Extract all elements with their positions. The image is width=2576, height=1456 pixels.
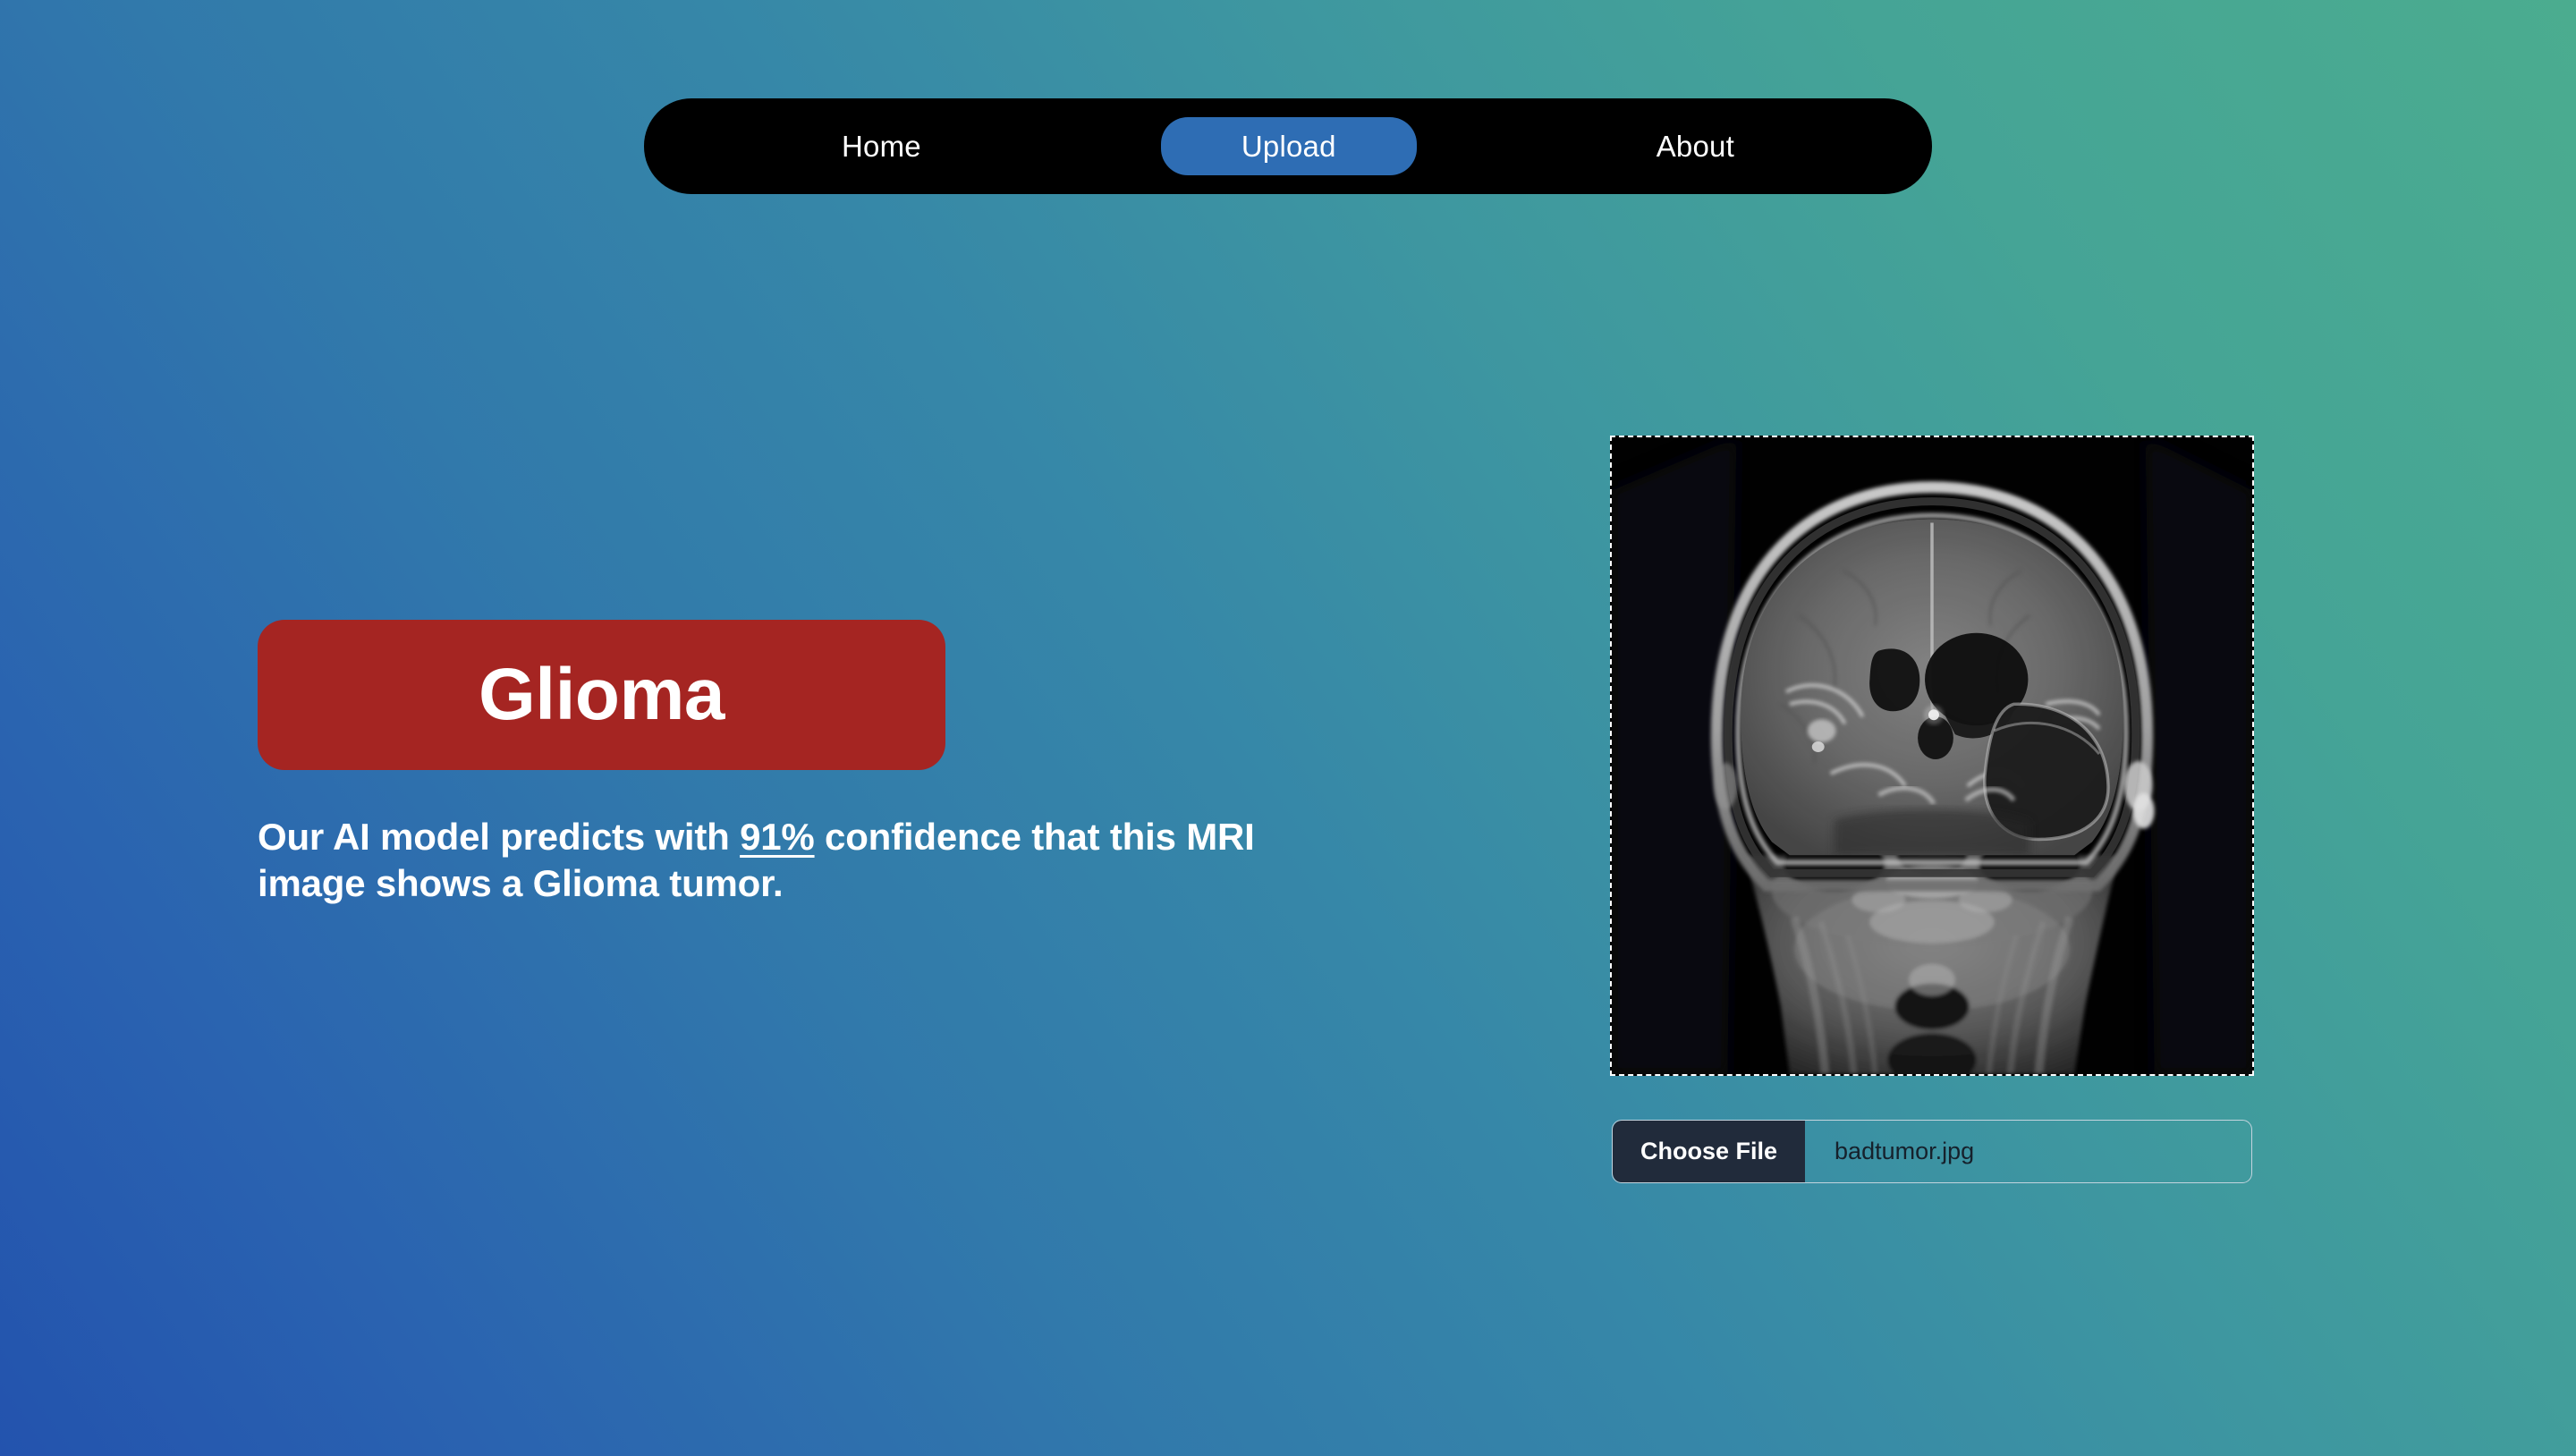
- nav-item-about[interactable]: About: [1626, 117, 1765, 175]
- nav-item-upload[interactable]: Upload: [1161, 117, 1417, 175]
- prediction-result-panel: Glioma Our AI model predicts with 91% co…: [258, 620, 1331, 907]
- confidence-percentage: 91%: [740, 816, 814, 858]
- file-upload-input[interactable]: Choose File badtumor.jpg: [1612, 1120, 2252, 1183]
- brain-mri-coronal-scan-image: [1612, 437, 2252, 1074]
- upload-panel: Choose File badtumor.jpg: [1610, 436, 2254, 1076]
- mri-preview-frame: [1610, 436, 2254, 1076]
- choose-file-button[interactable]: Choose File: [1613, 1121, 1805, 1182]
- selected-file-name: badtumor.jpg: [1805, 1121, 1974, 1182]
- confidence-statement: Our AI model predicts with 91% confidenc…: [258, 814, 1322, 907]
- diagnosis-badge: Glioma: [258, 620, 945, 770]
- nav-item-home[interactable]: Home: [811, 117, 952, 175]
- diagnosis-label: Glioma: [479, 658, 724, 732]
- main-navigation-bar: Home Upload About: [644, 98, 1932, 194]
- confidence-prefix-text: Our AI model predicts with: [258, 816, 740, 858]
